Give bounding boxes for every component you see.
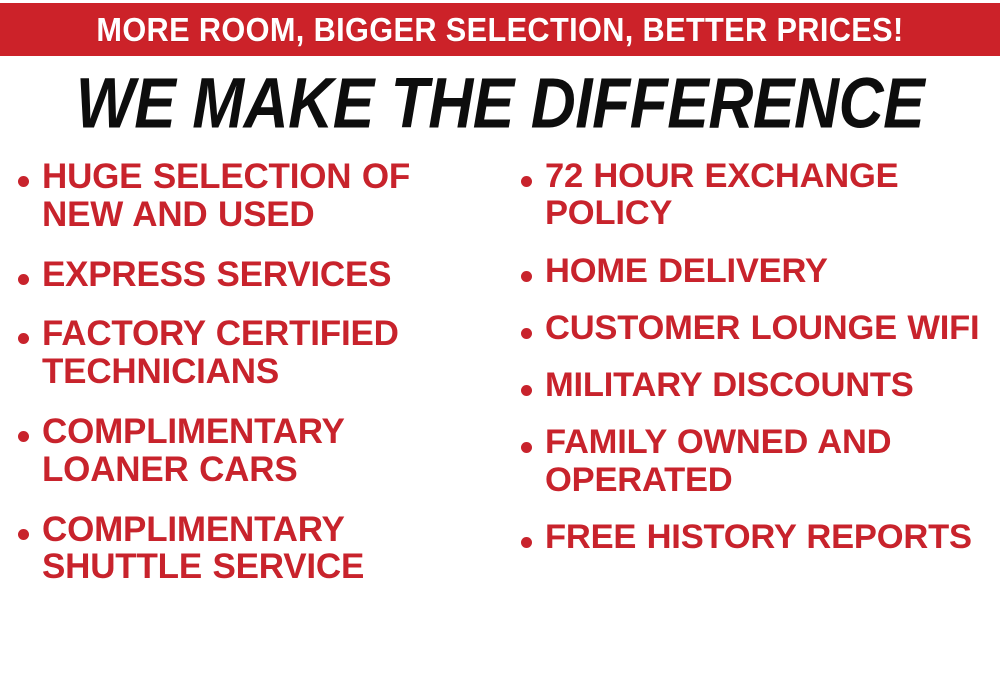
- list-item-label: HOME DELIVERY: [545, 253, 1000, 290]
- bullet-dot-icon: [521, 271, 532, 282]
- top-banner: MORE ROOM, BIGGER SELECTION, BETTER PRIC…: [0, 3, 1000, 56]
- list-item: FREE HISTORY REPORTS: [521, 519, 1000, 556]
- list-item: FACTORY CERTIFIED TECHNICIANS: [18, 315, 500, 391]
- list-item-label: COMPLIMENTARY SHUTTLE SERVICE: [42, 511, 500, 587]
- bullet-dot-icon: [18, 176, 29, 187]
- banner-headline-text: MORE ROOM, BIGGER SELECTION, BETTER PRIC…: [96, 13, 903, 46]
- bullet-dot-icon: [18, 529, 29, 540]
- benefits-column-left: HUGE SELECTION OF NEW AND USED EXPRESS S…: [18, 158, 500, 608]
- promotional-poster: MORE ROOM, BIGGER SELECTION, BETTER PRIC…: [0, 0, 1000, 694]
- bullet-dot-icon: [521, 176, 532, 187]
- benefits-columns: HUGE SELECTION OF NEW AND USED EXPRESS S…: [0, 158, 1000, 694]
- list-item: MILITARY DISCOUNTS: [521, 367, 1000, 404]
- list-item: 72 HOUR EXCHANGE POLICY: [521, 158, 1000, 233]
- list-item: EXPRESS SERVICES: [18, 256, 500, 294]
- main-headline-text: WE MAKE THE DIFFERENCE: [76, 68, 924, 139]
- list-item-label: EXPRESS SERVICES: [42, 256, 500, 294]
- bullet-dot-icon: [18, 431, 29, 442]
- list-item: HOME DELIVERY: [521, 253, 1000, 290]
- bullet-dot-icon: [521, 537, 532, 548]
- list-item-label: MILITARY DISCOUNTS: [545, 367, 1000, 404]
- bullet-dot-icon: [18, 333, 29, 344]
- list-item-label: FREE HISTORY REPORTS: [545, 519, 1000, 556]
- list-item: COMPLIMENTARY SHUTTLE SERVICE: [18, 511, 500, 587]
- list-item: HUGE SELECTION OF NEW AND USED: [18, 158, 500, 234]
- list-item-label: FACTORY CERTIFIED TECHNICIANS: [42, 315, 500, 391]
- list-item-label: 72 HOUR EXCHANGE POLICY: [545, 158, 1000, 233]
- list-item: CUSTOMER LOUNGE WIFI: [521, 310, 1000, 347]
- bullet-dot-icon: [521, 442, 532, 453]
- bullet-dot-icon: [521, 328, 532, 339]
- list-item-label: FAMILY OWNED AND OPERATED: [545, 424, 1000, 499]
- list-item: FAMILY OWNED AND OPERATED: [521, 424, 1000, 499]
- benefits-column-right: 72 HOUR EXCHANGE POLICY HOME DELIVERY CU…: [521, 158, 1000, 576]
- list-item-label: HUGE SELECTION OF NEW AND USED: [42, 158, 500, 234]
- list-item-label: COMPLIMENTARY LOANER CARS: [42, 413, 500, 489]
- list-item: COMPLIMENTARY LOANER CARS: [18, 413, 500, 489]
- list-item-label: CUSTOMER LOUNGE WIFI: [545, 310, 1000, 347]
- main-headline: WE MAKE THE DIFFERENCE: [0, 70, 1000, 137]
- bullet-dot-icon: [521, 385, 532, 396]
- bullet-dot-icon: [18, 274, 29, 285]
